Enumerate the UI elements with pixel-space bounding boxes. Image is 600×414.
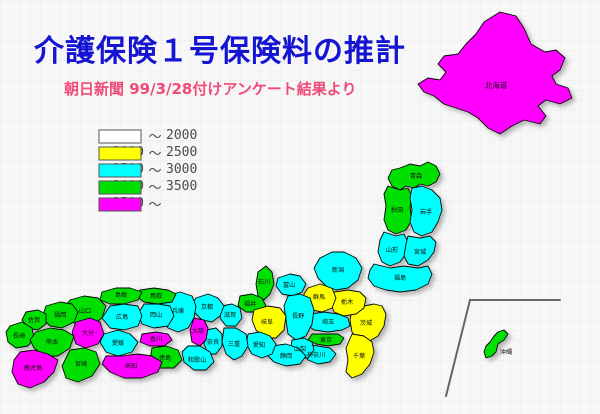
legend-swatch — [99, 130, 141, 143]
region-kagoshima[interactable] — [12, 350, 58, 388]
region-kochi[interactable] — [102, 354, 162, 378]
legend-swatch — [99, 147, 141, 160]
region-akita[interactable] — [384, 186, 412, 234]
region-ehime[interactable] — [100, 330, 138, 356]
region-mie[interactable] — [222, 328, 248, 360]
region-yamagata[interactable] — [378, 232, 408, 266]
region-kyoto[interactable] — [192, 294, 224, 322]
region-kagawa[interactable] — [140, 332, 172, 346]
region-iwate[interactable] — [410, 186, 442, 236]
region-chiba[interactable] — [346, 334, 374, 378]
japan-choropleth-map: 北海道 青森 岩手 宮城 秋田 山形 福島 茨城 栃木 群馬 埼玉 千葉 東京 … — [0, 0, 600, 414]
legend-swatches — [99, 130, 141, 211]
region-tottori[interactable] — [136, 288, 176, 304]
label-okinawa: 沖縄 — [500, 348, 512, 356]
region-miyagi[interactable] — [404, 236, 436, 266]
legend-swatch — [99, 198, 141, 211]
region-oita[interactable] — [72, 318, 104, 348]
region-hokkaido[interactable] — [418, 12, 572, 134]
region-toyama[interactable] — [276, 274, 306, 296]
region-okayama[interactable] — [138, 304, 174, 328]
region-shimane[interactable] — [100, 288, 142, 304]
region-miyazaki[interactable] — [62, 348, 100, 382]
region-aomori[interactable] — [388, 162, 440, 190]
map-landmass — [6, 12, 572, 388]
map-infographic: 介護保険１号保険料の推計 朝日新聞 99/3/28付けアンケート結果より 〜 2… — [0, 0, 600, 414]
region-nagano[interactable] — [284, 294, 314, 340]
region-hiroshima[interactable] — [102, 304, 142, 330]
region-fukushima[interactable] — [368, 264, 432, 292]
okinawa-inset-frame — [446, 300, 560, 396]
region-tokyo[interactable] — [308, 334, 344, 346]
region-okinawa[interactable] — [484, 330, 508, 358]
legend-swatch — [99, 164, 141, 177]
region-fukuoka[interactable] — [42, 302, 78, 328]
region-ishikawa[interactable] — [256, 266, 274, 300]
legend-swatch — [99, 181, 141, 194]
